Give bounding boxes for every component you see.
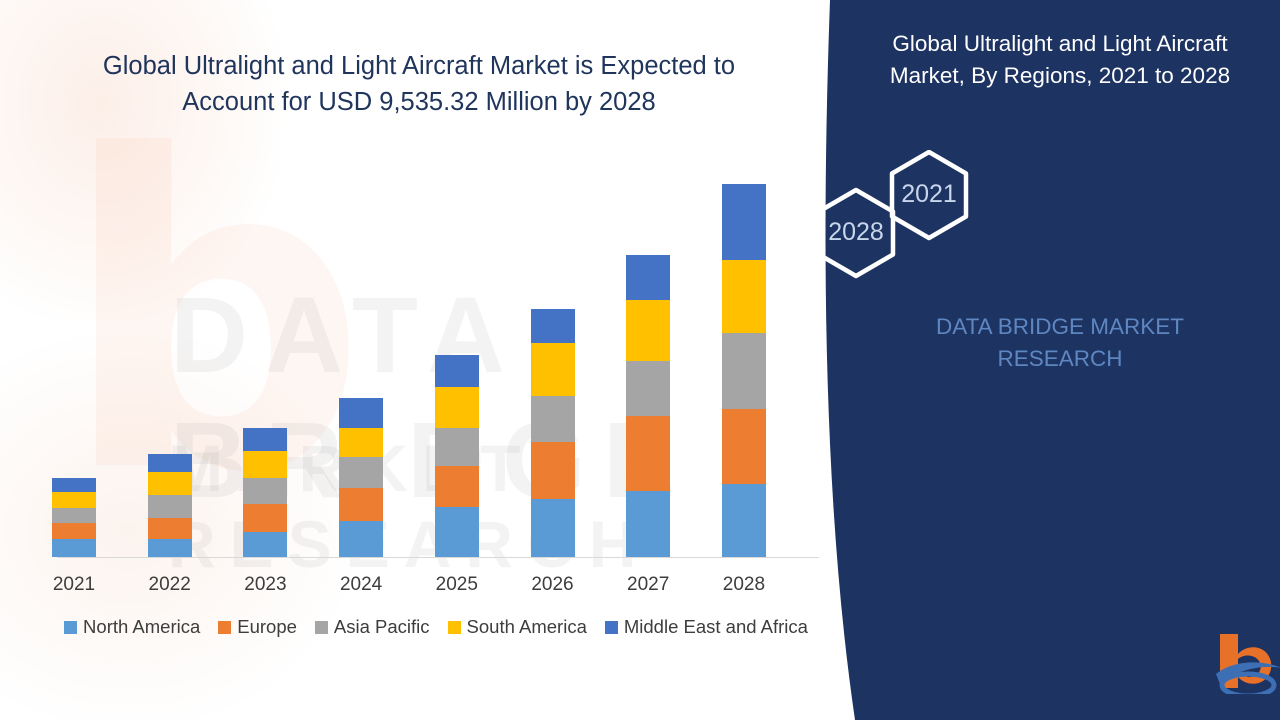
legend-swatch-icon	[605, 621, 618, 634]
data-bridge-logo: DATA BRIDGE MARKET RESEARCH	[1214, 628, 1280, 698]
hexagon-badges: 2021 2028	[800, 150, 1280, 280]
segment-asia-pacific	[148, 495, 192, 518]
legend-item-middle-east-and-africa[interactable]: Middle East and Africa	[605, 616, 808, 638]
segment-europe	[722, 409, 766, 484]
segment-asia-pacific	[626, 361, 670, 417]
x-label-2026: 2026	[503, 574, 603, 596]
segment-north-america	[722, 484, 766, 557]
segment-middle-east-and-africa	[626, 255, 670, 300]
segment-asia-pacific	[722, 333, 766, 410]
brand-line-2: RESEARCH	[860, 343, 1260, 375]
x-axis-line	[57, 557, 819, 558]
segment-south-america	[531, 343, 575, 396]
segment-middle-east-and-africa	[52, 478, 96, 492]
segment-north-america	[435, 507, 479, 557]
segment-europe	[435, 466, 479, 507]
x-label-2024: 2024	[311, 574, 411, 596]
bar-2023	[243, 428, 287, 557]
segment-middle-east-and-africa	[531, 309, 575, 343]
hexagon-2021-label: 2021	[901, 180, 957, 208]
segment-asia-pacific	[52, 508, 96, 523]
brand-line-1: DATA BRIDGE MARKET	[936, 314, 1184, 339]
segment-north-america	[339, 521, 383, 557]
segment-north-america	[148, 539, 192, 557]
segment-europe	[148, 518, 192, 539]
x-label-2022: 2022	[120, 574, 220, 596]
side-panel-content: Global Ultralight and Light Aircraft Mar…	[800, 0, 1280, 720]
chart-legend: North AmericaEuropeAsia PacificSouth Ame…	[0, 616, 872, 638]
legend-swatch-icon	[448, 621, 461, 634]
brand-name: DATA BRIDGE MARKET RESEARCH	[860, 311, 1260, 376]
legend-swatch-icon	[315, 621, 328, 634]
x-label-2023: 2023	[215, 574, 315, 596]
bar-2021	[52, 478, 96, 557]
segment-middle-east-and-africa	[435, 355, 479, 387]
bar-2025	[435, 355, 479, 557]
segment-middle-east-and-africa	[339, 398, 383, 429]
legend-item-south-america[interactable]: South America	[448, 616, 587, 638]
segment-asia-pacific	[243, 478, 287, 504]
hexagon-2028-label: 2028	[828, 218, 884, 246]
segment-north-america	[626, 491, 670, 557]
bar-2024	[339, 398, 383, 557]
segment-europe	[626, 416, 670, 491]
legend-label: North America	[83, 616, 200, 638]
segment-south-america	[626, 300, 670, 361]
hexagon-2021: 2021	[892, 152, 966, 238]
segment-south-america	[52, 492, 96, 508]
segment-north-america	[52, 539, 96, 557]
legend-label: Asia Pacific	[334, 616, 430, 638]
chart-panel: b DATA BRIDGE MARKET RESEARCH Global Ult…	[0, 0, 880, 720]
bar-2022	[148, 454, 192, 557]
segment-south-america	[339, 428, 383, 457]
bar-2026	[531, 309, 575, 557]
legend-item-europe[interactable]: Europe	[218, 616, 297, 638]
hexagon-2028: 2028	[819, 190, 893, 276]
segment-middle-east-and-africa	[148, 454, 192, 472]
x-label-2028: 2028	[694, 574, 794, 596]
legend-label: South America	[467, 616, 587, 638]
segment-europe	[339, 488, 383, 521]
segment-asia-pacific	[435, 428, 479, 466]
segment-south-america	[722, 260, 766, 333]
segment-south-america	[148, 472, 192, 495]
segment-south-america	[243, 451, 287, 478]
legend-swatch-icon	[64, 621, 77, 634]
segment-south-america	[435, 387, 479, 429]
segment-asia-pacific	[531, 396, 575, 443]
segment-europe	[243, 504, 287, 532]
segment-europe	[52, 523, 96, 539]
x-label-2025: 2025	[407, 574, 507, 596]
segment-europe	[531, 442, 575, 499]
side-panel-title: Global Ultralight and Light Aircraft Mar…	[860, 28, 1260, 92]
bar-2027	[626, 255, 670, 557]
stacked-bar-chart: 20212022202320242025202620272028	[0, 0, 880, 720]
legend-item-asia-pacific[interactable]: Asia Pacific	[315, 616, 430, 638]
segment-north-america	[243, 532, 287, 557]
logo-mark-icon	[1214, 628, 1280, 694]
bar-2028	[722, 184, 766, 557]
segment-asia-pacific	[339, 457, 383, 488]
x-label-2027: 2027	[598, 574, 698, 596]
x-label-2021: 2021	[24, 574, 124, 596]
legend-item-north-america[interactable]: North America	[64, 616, 200, 638]
legend-label: Europe	[237, 616, 297, 638]
legend-label: Middle East and Africa	[624, 616, 808, 638]
legend-swatch-icon	[218, 621, 231, 634]
segment-north-america	[531, 499, 575, 557]
segment-middle-east-and-africa	[243, 428, 287, 451]
segment-middle-east-and-africa	[722, 184, 766, 260]
